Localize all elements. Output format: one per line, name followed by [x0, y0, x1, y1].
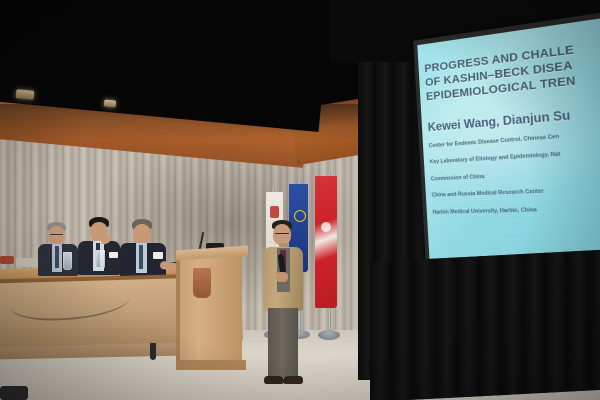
projected-slide: PROGRESS AND CHALLE OF KASHIN–BECK DISEA…: [417, 16, 600, 279]
black-drape-below-screen: [370, 249, 600, 400]
name-badge: [109, 252, 118, 258]
trouser-leg-right: [283, 308, 298, 378]
trouser-leg-left: [268, 308, 283, 378]
necktie: [55, 246, 59, 268]
standing-presenter: [252, 222, 310, 390]
flag-emblem: [270, 206, 279, 218]
floor-object: [0, 386, 28, 400]
table-papers: [16, 258, 38, 267]
eu-star-circle: [294, 210, 306, 222]
water-glass: [63, 252, 72, 270]
name-badge: [153, 252, 163, 259]
shoe-left: [264, 376, 284, 384]
flag-base: [318, 330, 340, 340]
flag-emblem: [321, 222, 331, 232]
ceiling-downlight: [16, 89, 35, 100]
shoe-right: [283, 376, 303, 384]
head: [133, 224, 151, 244]
red-white-cantonal-flag: [315, 176, 337, 308]
panelist-left: [38, 224, 78, 274]
conference-hall-photo: PROGRESS AND CHALLE OF KASHIN–BECK DISEA…: [0, 0, 600, 400]
necktie: [139, 245, 143, 269]
institutional-crest: [193, 268, 211, 298]
glasses: [50, 234, 63, 239]
ceiling-downlight: [104, 99, 117, 107]
projection-screen: PROGRESS AND CHALLE OF KASHIN–BECK DISEA…: [413, 10, 600, 286]
water-glass: [96, 250, 105, 269]
wooden-lectern: [180, 254, 242, 364]
table-item-red: [0, 256, 14, 264]
glasses: [275, 233, 289, 238]
panelist-right: [120, 222, 166, 276]
lectern-base: [176, 360, 246, 370]
projection-scanlines: [417, 16, 600, 279]
hand: [276, 272, 288, 282]
